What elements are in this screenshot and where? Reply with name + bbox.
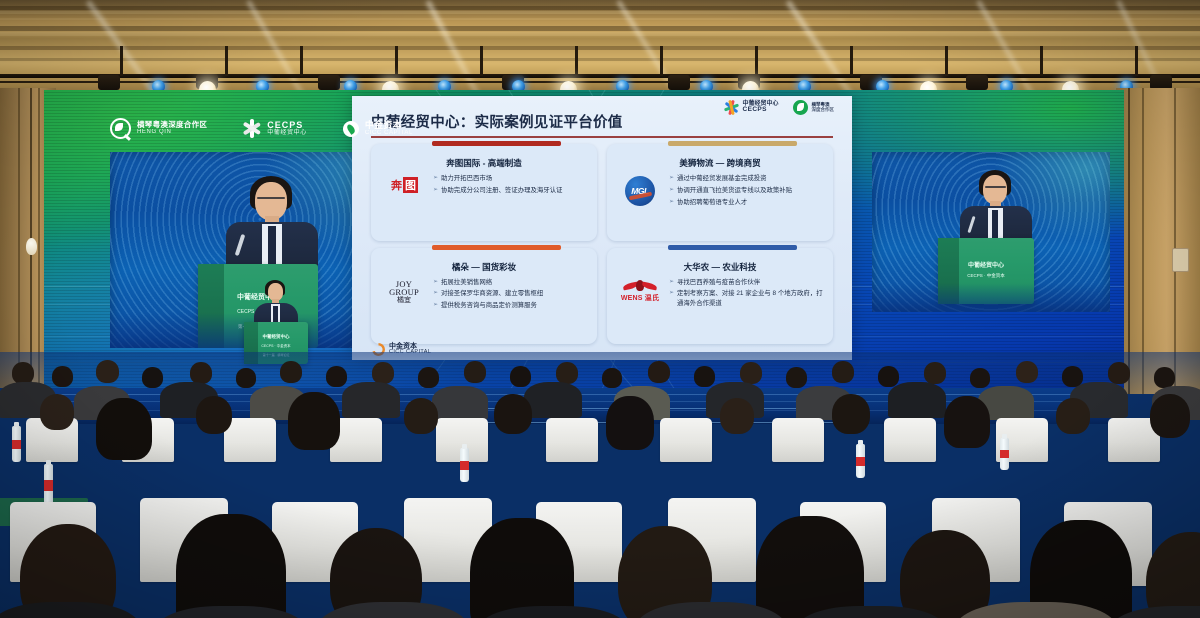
bullet-text: 助力开拓巴西市场 bbox=[441, 174, 492, 183]
right-projection-screen: 中葡经贸中心 CECPS · 中金资本 bbox=[872, 152, 1110, 312]
wens-bird-icon bbox=[623, 280, 657, 292]
card-bullet: ➢协调开通直飞拉美货运专线以及政策补贴 bbox=[669, 186, 825, 195]
attendee-head bbox=[464, 361, 486, 383]
bullet-text: 提供税务咨询与商品定价测算服务 bbox=[441, 301, 537, 310]
card-accent-bar bbox=[668, 141, 797, 146]
attendee-head bbox=[556, 362, 578, 384]
card-bullets: ➢助力开拓巴西市场 ➢协助完成分公司注册、签证办理及海牙认证 bbox=[433, 174, 589, 198]
stage-light-housing bbox=[98, 75, 120, 90]
cicc-drop-icon bbox=[343, 121, 359, 137]
case-card: 大华农 — 农业科技 WENS 温氏 ➢寻找巴西养殖与疫苗合作伙伴 ➢定制考察方… bbox=[607, 248, 833, 345]
card-heading: 美狮物流 — 跨境商贸 bbox=[615, 157, 825, 169]
card-heading: 橘朵 — 国货彩妆 bbox=[379, 261, 589, 273]
attendee-head bbox=[176, 514, 286, 618]
card-bullet: ➢拓展拉美销售网络 bbox=[433, 278, 589, 287]
attendee-head bbox=[190, 362, 212, 384]
bullet-text: 协助招聘葡萄语专业人才 bbox=[677, 198, 747, 207]
attendee-head bbox=[1154, 367, 1175, 388]
stage-podium-label: 中葡经贸中心 bbox=[244, 334, 308, 340]
card-bullet: ➢协助完成分公司注册、签证办理及海牙认证 bbox=[433, 186, 589, 195]
title-underline bbox=[371, 136, 833, 138]
wens-logo: WENS 温氏 bbox=[615, 278, 665, 303]
attendee-head bbox=[756, 516, 864, 618]
bullet-text: 拓展拉美销售网络 bbox=[441, 278, 492, 287]
hengqin-logo-line1: 横琴粤澳深度合作区 bbox=[137, 121, 207, 129]
hengqin-logo-line2: HENG QIN bbox=[137, 129, 207, 135]
card-accent-bar bbox=[668, 245, 797, 250]
attendee-shoulders bbox=[432, 386, 488, 420]
podium-logo-sub: CECPS · 中金资本 bbox=[938, 273, 1034, 279]
slide-header-logos: 中葡经贸中心 CECPS 横琴粤澳 深度合作区 bbox=[724, 100, 834, 115]
card-bullets: ➢寻找巴西养殖与疫苗合作伙伴 ➢定制考察方案、对接 21 家企业与 8 个地方政… bbox=[669, 278, 825, 311]
attendee-head bbox=[1150, 394, 1190, 438]
wall-light bbox=[26, 238, 37, 255]
card-heading: 大华农 — 农业科技 bbox=[615, 261, 825, 273]
led-wall-logo-row: 横琴粤澳深度合作区 HENG QIN CECPS 中葡经贸中心 中金资本 CIC… bbox=[110, 118, 413, 139]
attendee-head bbox=[494, 394, 532, 434]
attendee-head bbox=[648, 361, 670, 383]
stage-podium-sublabel: CECPS · 中金资本 bbox=[244, 344, 308, 349]
bullet-text: 定制考察方案、对接 21 家企业与 8 个地方政府，打通海外合作渠道 bbox=[677, 289, 825, 308]
cecps-logo-line1: CECPS bbox=[267, 121, 307, 130]
card-bullet: ➢寻找巴西养殖与疫苗合作伙伴 bbox=[669, 278, 825, 287]
cecps-logo-line2: 中葡经贸中心 bbox=[267, 130, 307, 136]
attendee-head bbox=[12, 362, 34, 384]
attendee-head bbox=[372, 362, 394, 384]
attendee-head bbox=[40, 394, 74, 430]
card-accent-bar bbox=[432, 141, 561, 146]
conference-chair bbox=[772, 418, 824, 462]
conference-chair bbox=[884, 418, 936, 462]
conference-photo: 横琴粤澳深度合作区 HENG QIN CECPS 中葡经贸中心 中金资本 CIC… bbox=[0, 0, 1200, 618]
attendee-head bbox=[740, 362, 762, 384]
attendee-head bbox=[196, 396, 232, 434]
attendee-head bbox=[786, 367, 807, 388]
attendee-head bbox=[280, 361, 302, 383]
stage-light-housing bbox=[966, 75, 988, 90]
attendee-head bbox=[1056, 398, 1090, 434]
bullet-marker-icon: ➢ bbox=[669, 278, 674, 287]
case-card: 美狮物流 — 跨境商贸 MGL ➢通过中葡经贸发展基金完成投资 ➢协调开通直飞拉… bbox=[607, 144, 833, 241]
wens-logo-text: WENS 温氏 bbox=[621, 293, 659, 303]
bullet-marker-icon: ➢ bbox=[669, 289, 674, 308]
attendee-shoulders bbox=[0, 602, 140, 618]
conference-chair bbox=[660, 418, 712, 462]
attendee-head bbox=[694, 366, 715, 387]
cicc-capital-logo: 中金资本 CICC CAPITAL bbox=[343, 121, 413, 137]
attendee-head bbox=[832, 394, 870, 434]
podium-logo-main: 中葡经贸中心 bbox=[938, 260, 1034, 269]
bullet-marker-icon: ➢ bbox=[433, 301, 438, 310]
cicc-logo-line1: 中金资本 bbox=[365, 121, 413, 130]
water-bottle bbox=[460, 448, 469, 482]
bullet-marker-icon: ➢ bbox=[433, 289, 438, 298]
attendee-head bbox=[944, 396, 990, 448]
bentu-logo-char1: 奔 bbox=[390, 177, 403, 193]
presentation-slide: 中葡经贸中心：实际案例见证平台价值 中葡经贸中心 CECPS 横琴粤澳 深度合作… bbox=[352, 96, 852, 360]
attendee-head bbox=[1108, 362, 1130, 384]
card-bullet: ➢定制考察方案、对接 21 家企业与 8 个地方政府，打通海外合作渠道 bbox=[669, 289, 825, 308]
attendee-head bbox=[142, 367, 163, 388]
bullet-marker-icon: ➢ bbox=[433, 174, 438, 183]
cecps-star-icon bbox=[724, 101, 738, 115]
conference-chair bbox=[224, 418, 276, 462]
hengqin-logo-slide: 横琴粤澳 深度合作区 bbox=[793, 100, 835, 115]
card-bullets: ➢通过中葡经贸发展基金完成投资 ➢协调开通直飞拉美货运专线以及政策补贴 ➢协助招… bbox=[669, 174, 825, 209]
bentu-logo: 奔图 bbox=[379, 174, 429, 194]
card-bullet: ➢协助招聘葡萄语专业人才 bbox=[669, 198, 825, 207]
wall-socket bbox=[1172, 248, 1189, 272]
joy-group-logo: JOY GROUP 橘宜 bbox=[379, 278, 429, 304]
attendee-head bbox=[878, 366, 899, 387]
stage-speaker-area: 中葡经贸中心 CECPS · 中金资本 第十一届 · 横琴论坛 bbox=[232, 278, 318, 358]
card-heading: 奔图国际 - 高端制造 bbox=[379, 157, 589, 169]
bullet-text: 协调开通直飞拉美货运专线以及政策补贴 bbox=[677, 186, 792, 195]
attendee-head bbox=[418, 367, 439, 388]
attendee-head bbox=[96, 360, 119, 383]
attendee-head bbox=[602, 368, 622, 388]
bullet-text: 对接圣保罗华商资源、建立零售枢纽 bbox=[441, 289, 543, 298]
case-card: 奔图国际 - 高端制造 奔图 ➢助力开拓巴西市场 ➢协助完成分公司注册、签证办理… bbox=[371, 144, 597, 241]
stage-light-housing bbox=[668, 75, 690, 90]
bentu-logo-char2: 图 bbox=[403, 177, 418, 193]
hall-wall-right bbox=[1116, 88, 1200, 394]
stage-light-housing bbox=[318, 75, 340, 90]
attendee-shoulders bbox=[524, 382, 582, 418]
water-bottle bbox=[12, 426, 21, 462]
mgl-logo: MGL bbox=[615, 174, 665, 206]
attendee-head bbox=[510, 366, 531, 387]
attendee-head bbox=[288, 392, 340, 450]
hengqin-q-icon bbox=[110, 118, 131, 139]
joy-logo-line2: GROUP bbox=[389, 288, 419, 297]
hengqin-q-icon bbox=[793, 100, 808, 115]
card-bullet: ➢通过中葡经贸发展基金完成投资 bbox=[669, 174, 825, 183]
bullet-marker-icon: ➢ bbox=[669, 186, 674, 195]
cecps-logo-slide: 中葡经贸中心 CECPS bbox=[724, 101, 778, 115]
card-accent-bar bbox=[432, 245, 561, 250]
bullet-marker-icon: ➢ bbox=[433, 186, 438, 195]
card-bullet: ➢提供税务咨询与商品定价测算服务 bbox=[433, 301, 589, 310]
card-bullet: ➢助力开拓巴西市场 bbox=[433, 174, 589, 183]
joy-logo-line3: 橘宜 bbox=[389, 297, 419, 304]
attendee-head bbox=[900, 530, 990, 618]
attendee-head bbox=[326, 366, 347, 387]
cecps-slide-line2: CECPS bbox=[742, 107, 778, 114]
card-bullets: ➢拓展拉美销售网络 ➢对接圣保罗华商资源、建立零售枢纽 ➢提供税务咨询与商品定价… bbox=[433, 278, 589, 313]
cicc-logo-line2: CICC CAPITAL bbox=[365, 130, 413, 136]
bullet-marker-icon: ➢ bbox=[433, 278, 438, 287]
water-bottle bbox=[856, 444, 865, 478]
attendee-head bbox=[52, 366, 73, 387]
attendee-head bbox=[96, 398, 152, 460]
water-bottle bbox=[1000, 438, 1009, 470]
hengqin-slide-line2: 深度合作区 bbox=[812, 108, 835, 113]
bullet-text: 寻找巴西养殖与疫苗合作伙伴 bbox=[677, 278, 760, 287]
card-bullet: ➢对接圣保罗华商资源、建立零售枢纽 bbox=[433, 289, 589, 298]
case-card-grid: 奔图国际 - 高端制造 奔图 ➢助力开拓巴西市场 ➢协助完成分公司注册、签证办理… bbox=[371, 144, 833, 344]
attendee-head bbox=[720, 398, 754, 434]
attendee-head bbox=[924, 362, 946, 384]
attendee-head bbox=[1016, 361, 1038, 383]
attendee-head bbox=[606, 396, 654, 450]
attendee-head bbox=[832, 361, 854, 383]
cecps-star-icon bbox=[243, 120, 261, 138]
bullet-marker-icon: ➢ bbox=[669, 198, 674, 207]
cecps-logo: CECPS 中葡经贸中心 bbox=[243, 120, 307, 138]
conference-chair bbox=[546, 418, 598, 462]
water-bottle bbox=[44, 464, 53, 506]
attendee-head bbox=[970, 368, 990, 388]
attendee-head bbox=[404, 398, 438, 434]
mgl-logo-text: MGL bbox=[631, 186, 648, 196]
case-card: 橘朵 — 国货彩妆 JOY GROUP 橘宜 ➢拓展拉美销售网络 ➢对接圣保罗华… bbox=[371, 248, 597, 345]
attendee-shoulders bbox=[888, 382, 946, 418]
hengqin-logo: 横琴粤澳深度合作区 HENG QIN bbox=[110, 118, 207, 139]
bullet-text: 协助完成分公司注册、签证办理及海牙认证 bbox=[441, 186, 562, 195]
attendee-head bbox=[236, 368, 256, 388]
bullet-text: 通过中葡经贸发展基金完成投资 bbox=[677, 174, 766, 183]
attendee-head bbox=[470, 518, 574, 618]
bullet-marker-icon: ➢ bbox=[669, 174, 674, 183]
audience-area bbox=[0, 352, 1200, 618]
attendee-shoulders bbox=[342, 382, 400, 418]
